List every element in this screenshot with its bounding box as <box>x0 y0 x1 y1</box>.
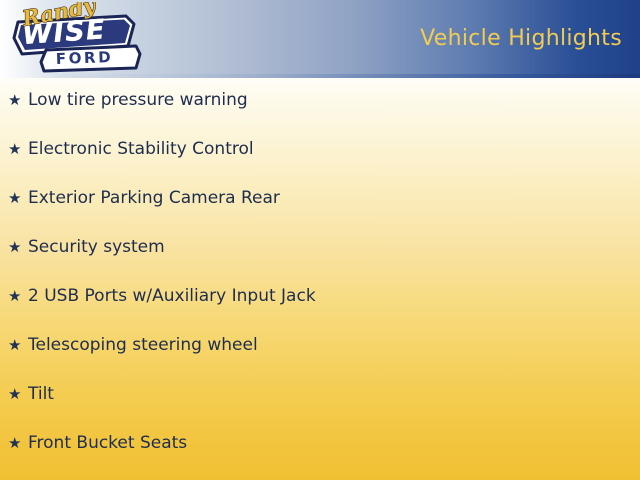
ford-banner: FORD <box>41 46 140 71</box>
list-item: ★ Exterior Parking Camera Rear <box>0 188 640 237</box>
highlight-label: Electronic Stability Control <box>28 139 254 159</box>
star-icon: ★ <box>8 289 28 304</box>
highlight-label: Low tire pressure warning <box>28 90 248 110</box>
highlight-label: Exterior Parking Camera Rear <box>28 188 280 208</box>
randy-wise-ford-logo-graphic: WISE FORD Randy <box>8 2 148 78</box>
list-item: ★ Telescoping steering wheel <box>0 335 640 384</box>
dealer-logo[interactable]: WISE FORD Randy <box>8 2 148 78</box>
list-item: ★ Low tire pressure warning <box>0 90 640 139</box>
highlights-panel: ★ Low tire pressure warning ★ Electronic… <box>0 78 640 480</box>
star-icon: ★ <box>8 142 28 157</box>
svg-text:FORD: FORD <box>56 48 114 68</box>
highlight-label: Telescoping steering wheel <box>28 335 258 355</box>
highlight-label: Security system <box>28 237 165 257</box>
list-item: ★ Security system <box>0 237 640 286</box>
star-icon: ★ <box>8 338 28 353</box>
star-icon: ★ <box>8 191 28 206</box>
highlight-label: 2 USB Ports w/Auxiliary Input Jack <box>28 286 316 306</box>
list-item: ★ Front Bucket Seats <box>0 433 640 480</box>
page-header: WISE FORD Randy Vehicle Highlights <box>0 0 640 78</box>
highlight-label: Front Bucket Seats <box>28 433 187 453</box>
list-item: ★ Tilt <box>0 384 640 433</box>
highlight-label: Tilt <box>28 384 54 404</box>
vehicle-highlights-page: WISE FORD Randy Vehicle Highlights <box>0 0 640 480</box>
vehicle-highlights-list: ★ Low tire pressure warning ★ Electronic… <box>0 90 640 480</box>
list-item: ★ Electronic Stability Control <box>0 139 640 188</box>
list-item: ★ 2 USB Ports w/Auxiliary Input Jack <box>0 286 640 335</box>
star-icon: ★ <box>8 387 28 402</box>
star-icon: ★ <box>8 436 28 451</box>
star-icon: ★ <box>8 240 28 255</box>
star-icon: ★ <box>8 93 28 108</box>
page-title: Vehicle Highlights <box>420 26 622 51</box>
